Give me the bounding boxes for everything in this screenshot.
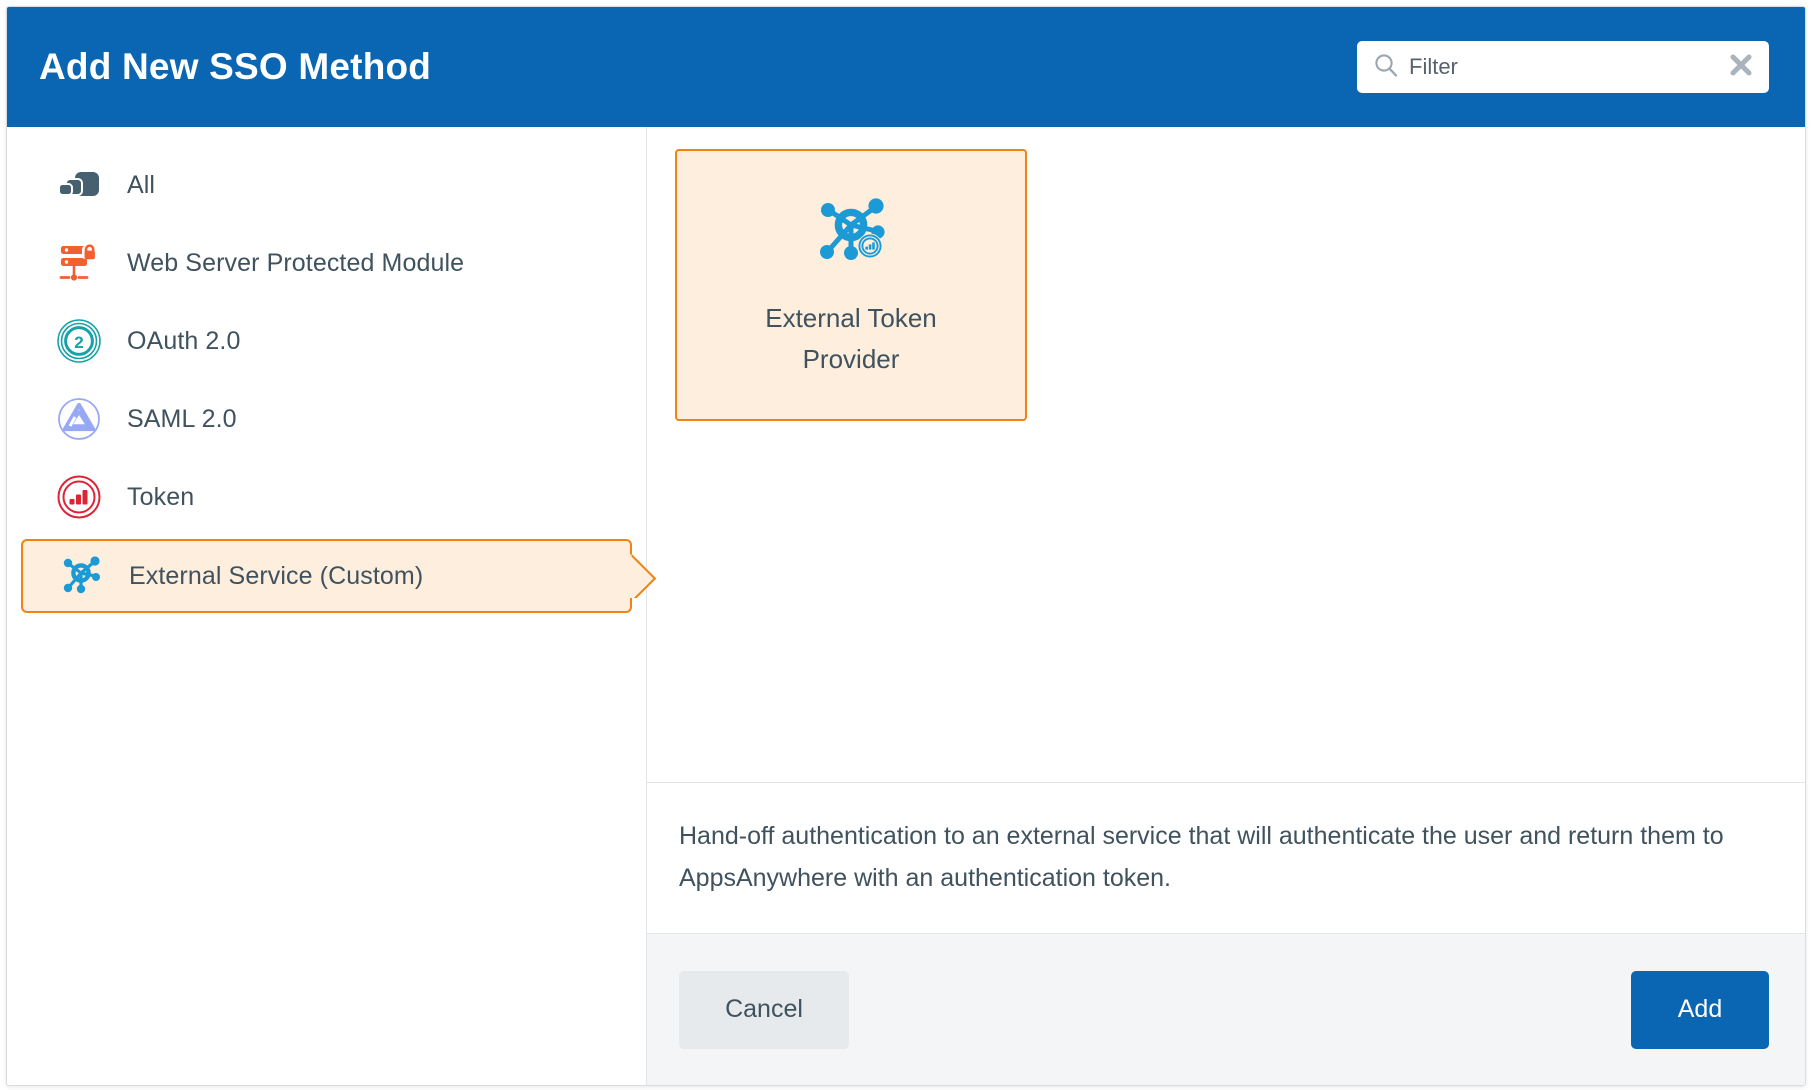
add-sso-method-dialog: Add New SSO Method (6, 6, 1806, 1086)
sidebar-item-saml-2-0[interactable]: SAML 2.0 (21, 383, 632, 455)
close-x-icon[interactable] (1727, 51, 1755, 84)
method-card-grid: External Token Provider (647, 127, 1805, 782)
saml-triangle-swirl-icon (53, 393, 105, 445)
sidebar-item-all[interactable]: All (21, 149, 632, 221)
sidebar-item-label: SAML 2.0 (127, 405, 237, 434)
search-icon (1373, 52, 1399, 83)
network-hub-badge-icon (808, 191, 894, 276)
filter-search-box[interactable] (1357, 41, 1769, 93)
sidebar-item-oauth-2-0[interactable]: 2 OAuth 2.0 (21, 305, 632, 377)
dialog-footer: Cancel Add (647, 933, 1805, 1085)
method-description-text: Hand-off authentication to an external s… (679, 815, 1769, 899)
sidebar-item-token[interactable]: Token (21, 461, 632, 533)
sidebar-item-label: External Service (Custom) (129, 562, 423, 591)
page-title: Add New SSO Method (39, 46, 431, 88)
sidebar-item-external-service-custom[interactable]: External Service (Custom) (21, 539, 632, 613)
method-card-label: External Token Provider (736, 298, 966, 379)
svg-text:2: 2 (74, 333, 83, 352)
sidebar-item-label: Web Server Protected Module (127, 249, 464, 278)
server-lock-icon (53, 237, 105, 289)
add-button[interactable]: Add (1631, 971, 1769, 1049)
sidebar-item-label: OAuth 2.0 (127, 327, 240, 356)
sidebar-item-label: Token (127, 483, 194, 512)
main-panel: External Token Provider Hand-off authent… (647, 127, 1805, 1085)
cancel-button[interactable]: Cancel (679, 971, 849, 1049)
sidebar-item-label: All (127, 171, 155, 200)
stacked-layers-icon (53, 159, 105, 211)
dialog-header: Add New SSO Method (7, 7, 1805, 127)
sidebar-item-web-server-protected-module[interactable]: Web Server Protected Module (21, 227, 632, 299)
method-card-external-token-provider[interactable]: External Token Provider (675, 149, 1027, 421)
dialog-body: All (7, 127, 1805, 1085)
method-description-panel: Hand-off authentication to an external s… (647, 782, 1805, 933)
search-input[interactable] (1409, 54, 1717, 80)
category-sidebar: All (7, 127, 647, 1085)
network-hub-icon (55, 550, 107, 602)
oauth-circle-two-icon: 2 (53, 315, 105, 367)
token-bars-circle-icon (53, 471, 105, 523)
